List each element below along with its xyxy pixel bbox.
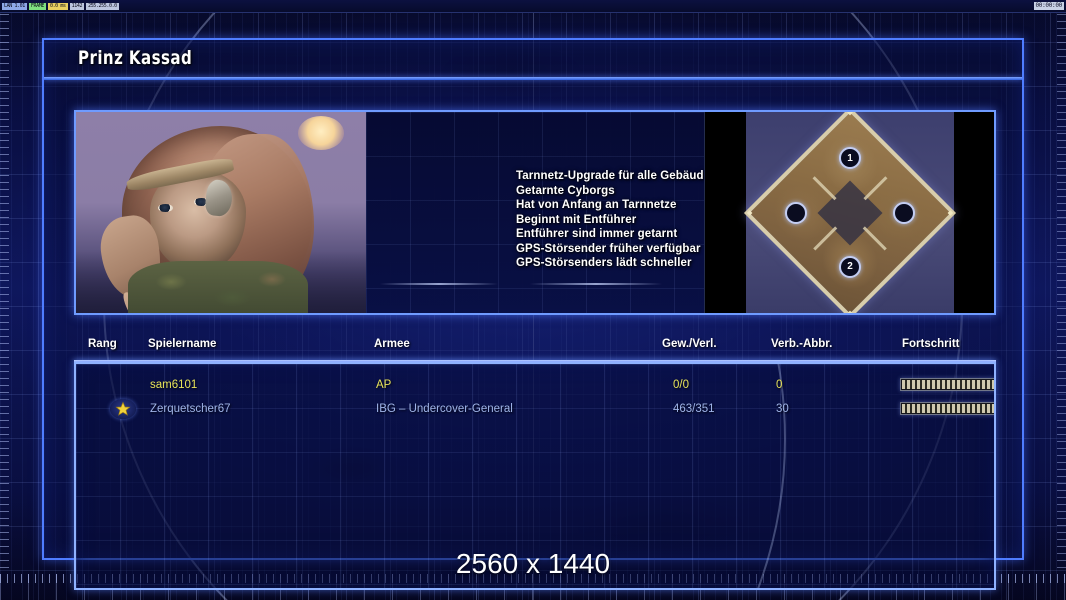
cell-progress [900, 378, 996, 391]
ability-item: GPS-Störsenders lädt schneller [516, 257, 710, 271]
hud-timer: 00:00:00 [1034, 2, 1065, 10]
table-row[interactable]: sam6101 AP 0/0 0 [76, 373, 994, 397]
ruler-left [0, 14, 22, 574]
ability-item: Getarnte Cyborgs [516, 185, 710, 199]
column-header-army: Armee [374, 338, 410, 350]
column-header-player: Spielername [148, 338, 216, 350]
cell-player-name: Zerquetscher67 [150, 397, 231, 421]
hud-chip-1: FRAME [29, 3, 46, 10]
map-field: 1 2 [746, 112, 954, 313]
main-window: Prinz Kassad [42, 38, 1024, 560]
general-info-panel: Tarnnetz-Upgrade für alle Gebäude Getarn… [74, 110, 996, 315]
table-row[interactable]: Zerquetscher67 IBG – Undercover-General … [76, 397, 994, 421]
decorative-dash-right [530, 283, 662, 285]
title-bar: Prinz Kassad [44, 40, 1022, 80]
map-terrain-diamond [744, 112, 956, 313]
page-title: Prinz Kassad [78, 47, 192, 69]
ruler-right [1044, 14, 1066, 574]
resolution-overlay: 2560 x 1440 [0, 548, 1066, 580]
hud-chip-0: LAN 1.01 [2, 3, 27, 10]
decorative-dash-left [380, 283, 498, 285]
ability-item: Hat von Anfang an Tarnnetze [516, 199, 710, 213]
map-preview[interactable]: 1 2 [704, 112, 994, 313]
cell-progress [900, 402, 996, 415]
ability-list: Tarnnetz-Upgrade für alle Gebäude Getarn… [516, 170, 710, 271]
player-table-header: Rang Spielername Armee Gew./Verl. Verb.-… [74, 338, 996, 360]
cell-disconnects: 0 [776, 373, 782, 397]
hud-chip-2: 0.0 ms [48, 3, 68, 10]
cell-army: IBG – Undercover-General [376, 397, 513, 421]
progress-bar [900, 402, 996, 415]
star-icon [110, 399, 136, 419]
column-header-disconnects: Verb.-Abbr. [771, 338, 832, 350]
hud-left-group: LAN 1.01 FRAME 0.0 ms 1142 255.255.0.0 [0, 3, 119, 10]
ability-list-panel: Tarnnetz-Upgrade für alle Gebäude Getarn… [366, 112, 704, 313]
top-status-bar: LAN 1.01 FRAME 0.0 ms 1142 255.255.0.0 0… [0, 0, 1066, 13]
cell-winloss: 0/0 [673, 373, 689, 397]
map-start-position-3[interactable] [893, 202, 915, 224]
hud-chip-3: 1142 [70, 3, 84, 10]
cell-winloss: 463/351 [673, 397, 715, 421]
hud-chip-4: 255.255.0.0 [86, 3, 119, 10]
ability-item: Tarnnetz-Upgrade für alle Gebäude [516, 170, 710, 184]
cell-army: AP [376, 373, 391, 397]
cell-disconnects: 30 [776, 397, 789, 421]
column-header-winloss: Gew./Verl. [662, 338, 717, 350]
column-header-rank: Rang [88, 338, 117, 350]
ability-item: Entführer sind immer getarnt [516, 228, 710, 242]
ability-item: Beginnt mit Entführer [516, 214, 710, 228]
general-portrait [76, 112, 366, 313]
game-lobby-screen: LAN 1.01 FRAME 0.0 ms 1142 255.255.0.0 0… [0, 0, 1066, 600]
progress-bar [900, 378, 996, 391]
title-divider [44, 77, 1022, 80]
map-start-position-2[interactable] [785, 202, 807, 224]
cell-player-name: sam6101 [150, 373, 197, 397]
column-header-progress: Fortschritt [902, 338, 960, 350]
portrait-eye-left [158, 204, 173, 212]
ability-item: GPS-Störsender früher verfügbar [516, 243, 710, 257]
map-corner-marker [948, 210, 954, 216]
portrait-uniform [128, 261, 308, 313]
map-start-position-4[interactable]: 2 [839, 256, 861, 278]
